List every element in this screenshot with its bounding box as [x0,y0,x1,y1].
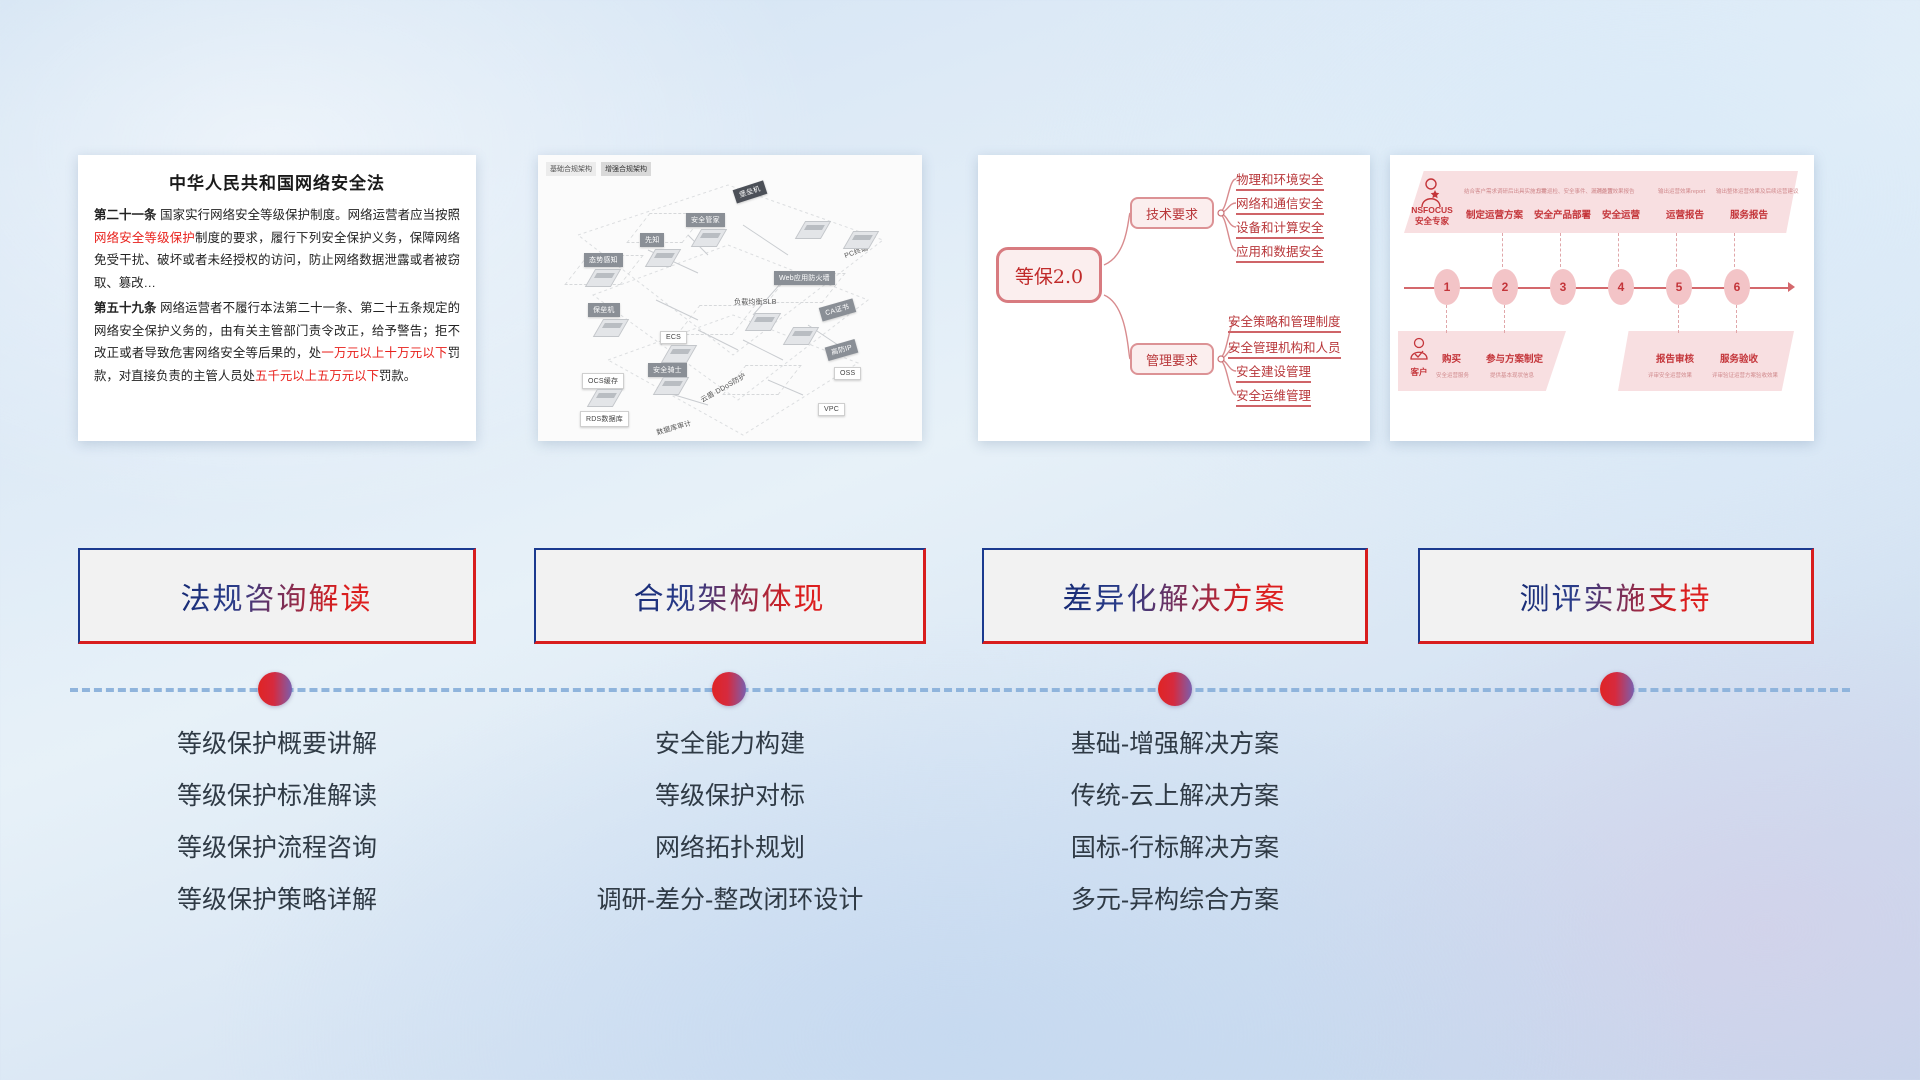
top-label-operation-plan: 制定运营方案 [1466,207,1523,221]
top-sub-3: 对运营效果报告 [1596,187,1635,195]
node-oss: OSS [834,367,861,380]
timeline-marker-1[interactable] [258,672,292,706]
nsfocus-brand: NSFOCUS 安全专家 [1408,205,1456,226]
bottom-sub-1: 安全运营服务 [1436,371,1469,379]
timeline-step-1: 1 [1434,269,1460,305]
timeline-step-6: 6 [1724,269,1750,305]
section-title-compliance-architecture[interactable]: 合规架构体现 [534,548,926,644]
article-59-text-c: 罚款。 [379,369,416,383]
article-59-label: 第五十九条 [94,301,157,315]
section-title-label-1: 法规咨询解读 [181,574,373,618]
node-bastion-host: 保垒机 [588,303,620,317]
section-title-regulation-consulting[interactable]: 法规咨询解读 [78,548,476,644]
timeline-marker-4[interactable] [1600,672,1634,706]
feature-item: 调研-差分-整改闭环设计 [534,888,926,913]
article-21-text-a: 国家实行网络安全等级保护制度。网络运营者应当按照 [157,208,460,222]
feature-item: 安全能力构建 [534,732,926,757]
bottom-label-purchase: 购买 [1442,351,1461,365]
customer-label: 客户 [1408,367,1430,378]
timeline-dashed-line [70,688,1850,692]
node-ecs: ECS [660,331,687,344]
node-xianzhi: 先知 [640,233,664,247]
node-situational-awareness: 态势感知 [584,253,623,267]
top-sub-5: 输出整体运营效果及后续运营建议 [1716,187,1799,195]
section-title-row: 法规咨询解读 合规架构体现 差异化解决方案 测评实施支持 [0,548,1920,646]
feature-column-3: 基础-增强解决方案 传统-云上解决方案 国标-行标解决方案 多元-异构综合方案 [982,732,1368,940]
architecture-diagram: 基础合规架构 增强合规架构 [538,155,922,441]
mind-map: 等保2.0 技术要求 物理和环境安全 网络和通信安全 设备和计算安全 应用和数据… [978,155,1370,441]
timeline-step-5: 5 [1666,269,1692,305]
mind-leaf-security-construction-mgmt: 安全建设管理 [1236,361,1311,383]
nsfocus-timeline: NSFOCUS 安全专家 结合客户需求调研后出具实施方案 制定运营方案 日常巡检… [1390,155,1814,441]
feature-item: 基础-增强解决方案 [982,732,1368,757]
section-title-assessment-support[interactable]: 测评实施支持 [1418,548,1814,644]
bottom-label-report-review: 报告审核 [1656,351,1694,365]
card-row: 中华人民共和国网络安全法 第二十一条 国家实行网络安全等级保护制度。网络运营者应… [0,155,1920,445]
top-label-ops-report: 运营报告 [1666,207,1704,221]
law-document: 中华人民共和国网络安全法 第二十一条 国家实行网络安全等级保护制度。网络运营者应… [78,155,476,396]
law-article-59: 第五十九条 网络运营者不履行本法第二十一条、第二十五条规定的网络安全保护义务的，… [94,297,460,387]
card-law-text[interactable]: 中华人民共和国网络安全法 第二十一条 国家实行网络安全等级保护制度。网络运营者应… [78,155,476,441]
feature-columns: 等级保护概要讲解 等级保护标准解读 等级保护流程咨询 等级保护策略详解 安全能力… [0,732,1920,962]
law-article-21: 第二十一条 国家实行网络安全等级保护制度。网络运营者应当按照网络安全等级保护制度… [94,204,460,294]
top-label-security-ops: 安全运营 [1602,207,1640,221]
mind-leaf-security-ops-mgmt: 安全运维管理 [1236,385,1311,407]
bottom-sub-3: 评审安全运营效果 [1648,371,1692,379]
node-web-application-firewall: Web应用防火墙 [774,271,835,285]
timeline-marker-3[interactable] [1158,672,1192,706]
mind-branch-management: 管理要求 [1130,343,1214,375]
feature-item: 等级保护流程咨询 [78,836,476,861]
node-ocs-cache: OCS缓存 [582,373,624,389]
article-21-label: 第二十一条 [94,208,157,222]
top-sub-4: 输出运营效果report [1658,187,1705,195]
mind-leaf-physical-env-security: 物理和环境安全 [1236,169,1324,191]
timeline-step-4: 4 [1608,269,1634,305]
bottom-sub-2: 提供基本现状信息 [1490,371,1534,379]
card-cloud-architecture[interactable]: 基础合规架构 增强合规架构 [538,155,922,441]
node-security-butler: 安全管家 [686,213,725,227]
mind-branch-technical: 技术要求 [1130,197,1214,229]
bottom-sub-4: 评审验证运营方案验收效果 [1712,371,1778,379]
slide-canvas: 中华人民共和国网络安全法 第二十一条 国家实行网络安全等级保护制度。网络运营者应… [0,0,1920,1080]
section-title-label-3: 差异化解决方案 [1063,574,1287,618]
feature-item: 等级保护对标 [534,784,926,809]
timeline-arrow-icon [1788,282,1795,292]
customer-band-right [1618,331,1794,391]
card-mind-map[interactable]: 等保2.0 技术要求 物理和环境安全 网络和通信安全 设备和计算安全 应用和数据… [978,155,1370,441]
feature-item: 国标-行标解决方案 [982,836,1368,861]
node-load-balancer-slb: 负载均衡SLB [734,297,777,307]
feature-item: 网络拓扑规划 [534,836,926,861]
bottom-label-plan-participation: 参与方案制定 [1486,351,1543,365]
mind-leaf-security-org-personnel: 安全管理机构和人员 [1228,337,1341,359]
mind-leaf-network-comm-security: 网络和通信安全 [1236,193,1324,215]
bottom-label-service-acceptance: 服务验收 [1720,351,1758,365]
timeline-step-3: 3 [1550,269,1576,305]
node-rds-database: RDS数据库 [580,411,629,427]
law-title: 中华人民共和国网络安全法 [94,169,460,194]
mind-map-center-node: 等保2.0 [996,247,1102,303]
feature-item: 等级保护标准解读 [78,784,476,809]
node-vpc: VPC [818,403,845,416]
timeline-marker-2[interactable] [712,672,746,706]
timeline-step-2: 2 [1492,269,1518,305]
feature-item: 多元-异构综合方案 [982,888,1368,913]
feature-item: 等级保护策略详解 [78,888,476,913]
section-title-label-2: 合规架构体现 [634,574,826,618]
feature-column-2: 安全能力构建 等级保护对标 网络拓扑规划 调研-差分-整改闭环设计 [534,732,926,940]
mind-leaf-app-data-security: 应用和数据安全 [1236,241,1324,263]
top-label-service-report: 服务报告 [1730,207,1768,221]
provider-band [1404,171,1798,233]
article-21-highlight: 网络安全等级保护 [94,231,195,245]
card-nsfocus-service-timeline[interactable]: NSFOCUS 安全专家 结合客户需求调研后出具实施方案 制定运营方案 日常巡检… [1390,155,1814,441]
article-59-highlight-2: 五千元以上五万元以下 [255,369,379,383]
article-59-highlight-1: 一万元以上十万元以下 [321,346,447,360]
feature-column-1: 等级保护概要讲解 等级保护标准解读 等级保护流程咨询 等级保护策略详解 [78,732,476,940]
mind-leaf-device-compute-security: 设备和计算安全 [1236,217,1324,239]
feature-item: 传统-云上解决方案 [982,784,1368,809]
nsfocus-brand-line1: NSFOCUS [1411,205,1453,215]
top-sub-1: 结合客户需求调研后出具实施方案 [1464,187,1547,195]
node-security-knight: 安全骑士 [648,363,687,377]
mind-leaf-security-policy-system: 安全策略和管理制度 [1228,311,1341,333]
top-label-product-deploy: 安全产品部署 [1534,207,1591,221]
feature-item: 等级保护概要讲解 [78,732,476,757]
section-title-differentiated-solution[interactable]: 差异化解决方案 [982,548,1368,644]
customer-person-icon [1408,337,1430,367]
section-title-label-4: 测评实施支持 [1520,574,1712,618]
nsfocus-brand-line2: 安全专家 [1415,216,1449,226]
